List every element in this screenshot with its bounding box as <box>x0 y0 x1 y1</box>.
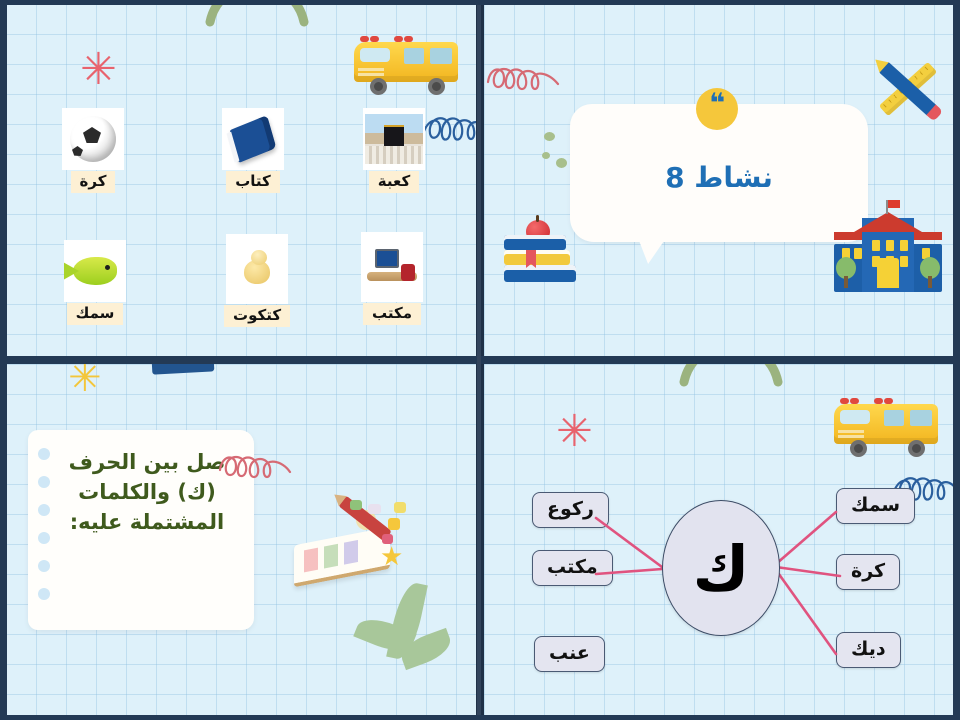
vocab-label: كتاب <box>226 171 280 193</box>
link-rukuu <box>596 518 662 567</box>
blue-tape-icon <box>152 364 215 375</box>
books-apple-icon <box>504 220 576 282</box>
red-squiggle-icon <box>218 450 304 484</box>
school-building-icon <box>834 200 942 292</box>
center-letter-circle: ك <box>662 500 780 636</box>
slide-canvas: ✳ كرة كتاب ك <box>0 0 960 720</box>
vertical-divider <box>477 0 481 720</box>
activity-title-panel: نشاط 8 ❝ <box>484 4 954 356</box>
fish-icon <box>64 240 126 302</box>
red-squiggle-icon <box>486 60 564 94</box>
red-star-icon: ✳ <box>80 48 117 92</box>
quote-badge-icon: ❝ <box>696 88 738 130</box>
school-bus-icon <box>346 24 466 96</box>
vocab-card[interactable]: مكتب <box>361 232 423 325</box>
frame-top <box>0 0 960 5</box>
yellow-star-icon: ✳ <box>68 364 102 398</box>
vocab-card[interactable]: كتكوت <box>224 234 290 327</box>
frame-left <box>0 0 7 720</box>
vocab-card[interactable]: كعبة <box>363 108 425 193</box>
soccer-ball-icon <box>62 108 124 170</box>
vocab-label: سمك <box>67 303 124 325</box>
link-deek <box>776 570 836 654</box>
pencil-ruler-icon <box>870 52 944 126</box>
desk-icon <box>361 232 423 302</box>
link-kura <box>776 567 840 576</box>
green-arc-icon <box>202 4 312 30</box>
blue-squiggle-icon <box>420 108 476 150</box>
vocab-card[interactable]: سمك <box>64 240 126 325</box>
frame-right <box>953 0 960 720</box>
vocab-label: كتكوت <box>224 305 290 327</box>
pencil-book-burst-icon: ★ <box>294 504 404 584</box>
vocab-card[interactable]: كرة <box>62 108 124 193</box>
note-holes-icon <box>38 448 50 616</box>
matching-exercise-panel: ✳ <box>484 364 954 716</box>
leaf-plant-icon <box>356 582 466 692</box>
instruction-text: صل بين الحرف (ك) والكلمات المشتملة عليه: <box>54 448 240 537</box>
link-samak <box>776 512 836 564</box>
matching-diagram: ك ركوع مكتب عنب سمك كرة ديك <box>484 364 954 716</box>
book-icon <box>222 108 284 170</box>
kaaba-icon <box>363 108 425 170</box>
chick-icon <box>226 234 288 304</box>
instruction-panel: ✳ صل بين الحرف (ك) والكلمات المشتملة علي… <box>6 364 476 716</box>
vocabulary-picture-panel: ✳ كرة كتاب ك <box>6 4 476 356</box>
vocab-card[interactable]: كتاب <box>222 108 284 193</box>
page-title: نشاط 8 <box>570 161 868 194</box>
vocab-label: كرة <box>71 171 116 193</box>
vocab-label: كعبة <box>369 171 419 193</box>
link-maktab <box>596 569 662 574</box>
vocab-label: مكتب <box>363 303 421 325</box>
